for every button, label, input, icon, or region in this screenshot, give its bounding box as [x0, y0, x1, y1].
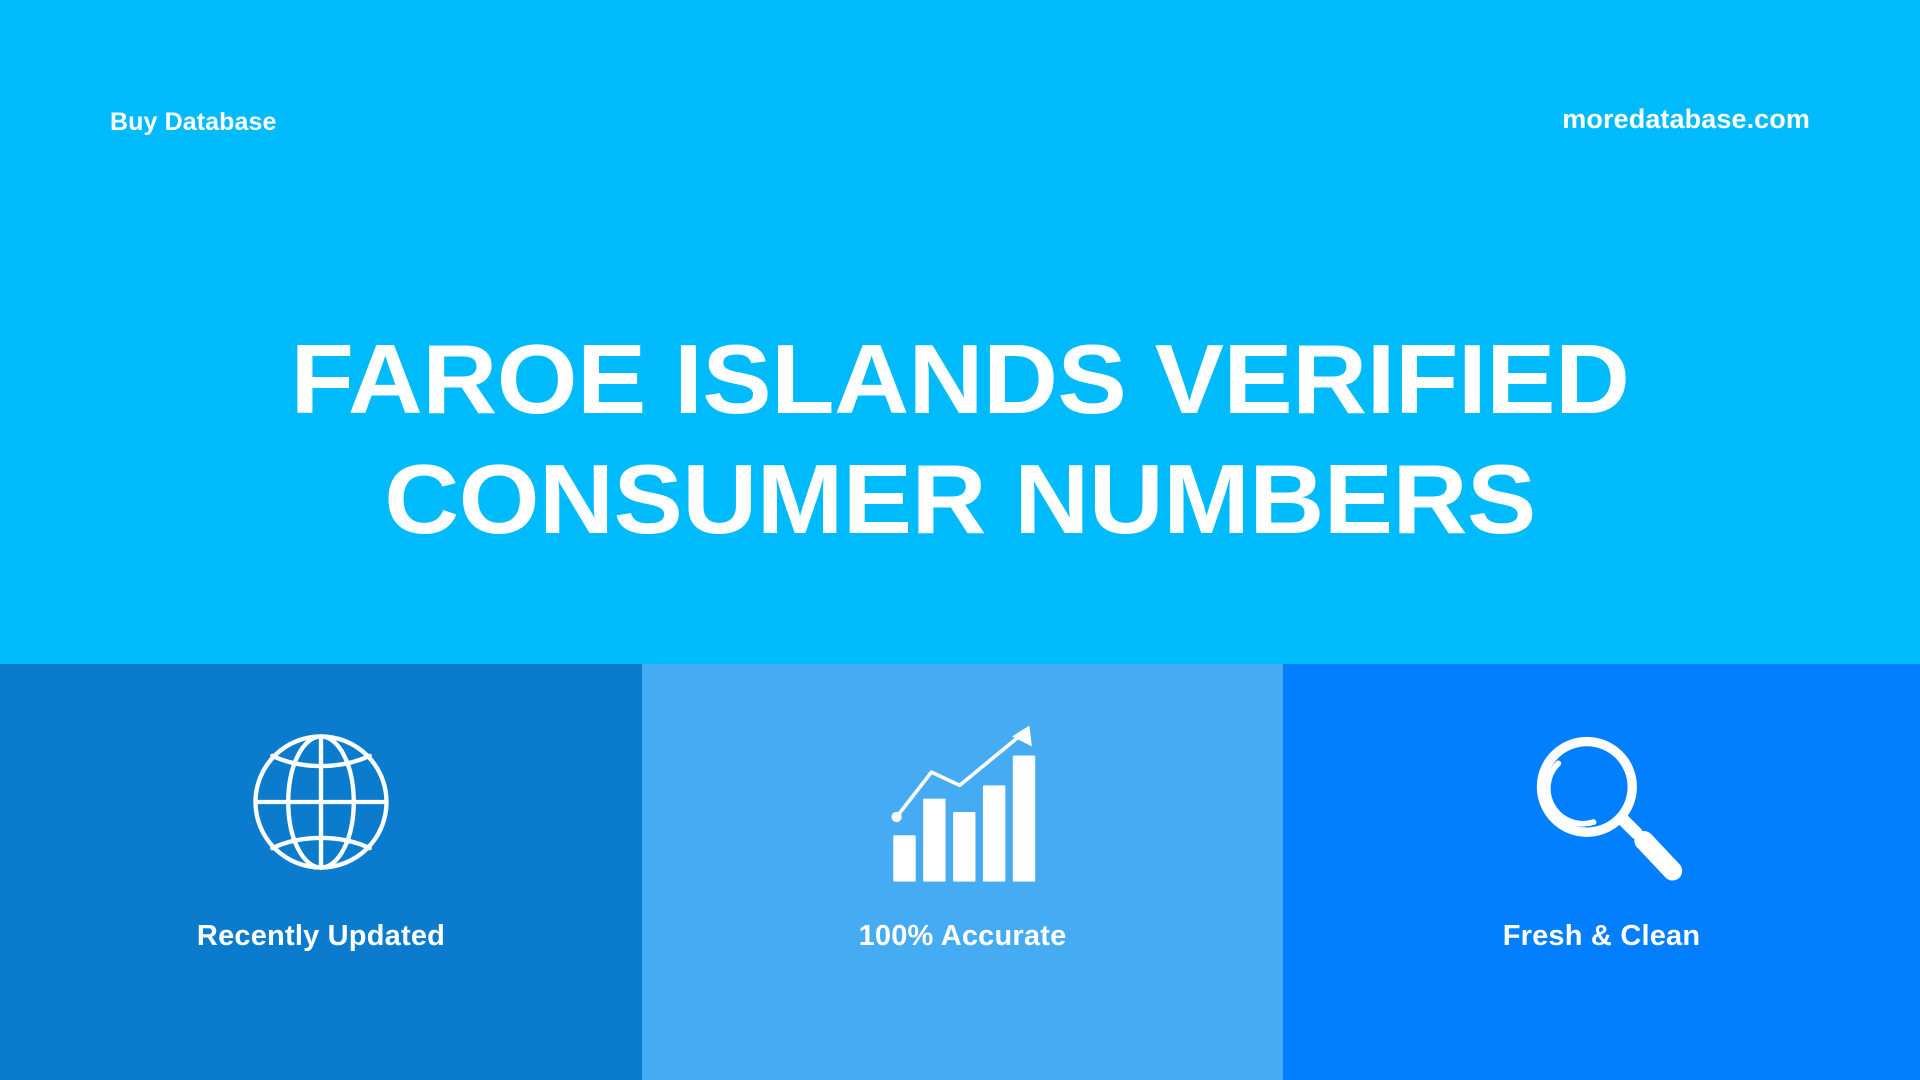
growth-bar-chart-icon	[880, 718, 1046, 886]
promo-poster: Buy Database moredatabase.com FAROE ISLA…	[0, 0, 1920, 1080]
hero-band: Buy Database moredatabase.com FAROE ISLA…	[0, 0, 1920, 664]
feature-label-accurate: 100% Accurate	[859, 920, 1067, 953]
feature-label-fresh-clean: Fresh & Clean	[1503, 920, 1701, 953]
feature-panel-fresh-clean: Fresh & Clean	[1283, 664, 1920, 1080]
magnifier-icon	[1518, 718, 1686, 886]
page-title: FAROE ISLANDS VERIFIED CONSUMER NUMBERS	[0, 320, 1920, 559]
brand-label: Buy Database	[110, 108, 277, 137]
page-title-line-1: FAROE ISLANDS VERIFIED	[0, 320, 1920, 440]
feature-strip: Recently Updated	[0, 664, 1920, 1080]
feature-label-recently-updated: Recently Updated	[197, 920, 445, 953]
globe-icon	[237, 718, 405, 886]
website-label: moredatabase.com	[1562, 104, 1810, 135]
feature-panel-accurate: 100% Accurate	[642, 664, 1283, 1080]
feature-panel-recently-updated: Recently Updated	[0, 664, 642, 1080]
page-title-line-2: CONSUMER NUMBERS	[0, 440, 1920, 560]
